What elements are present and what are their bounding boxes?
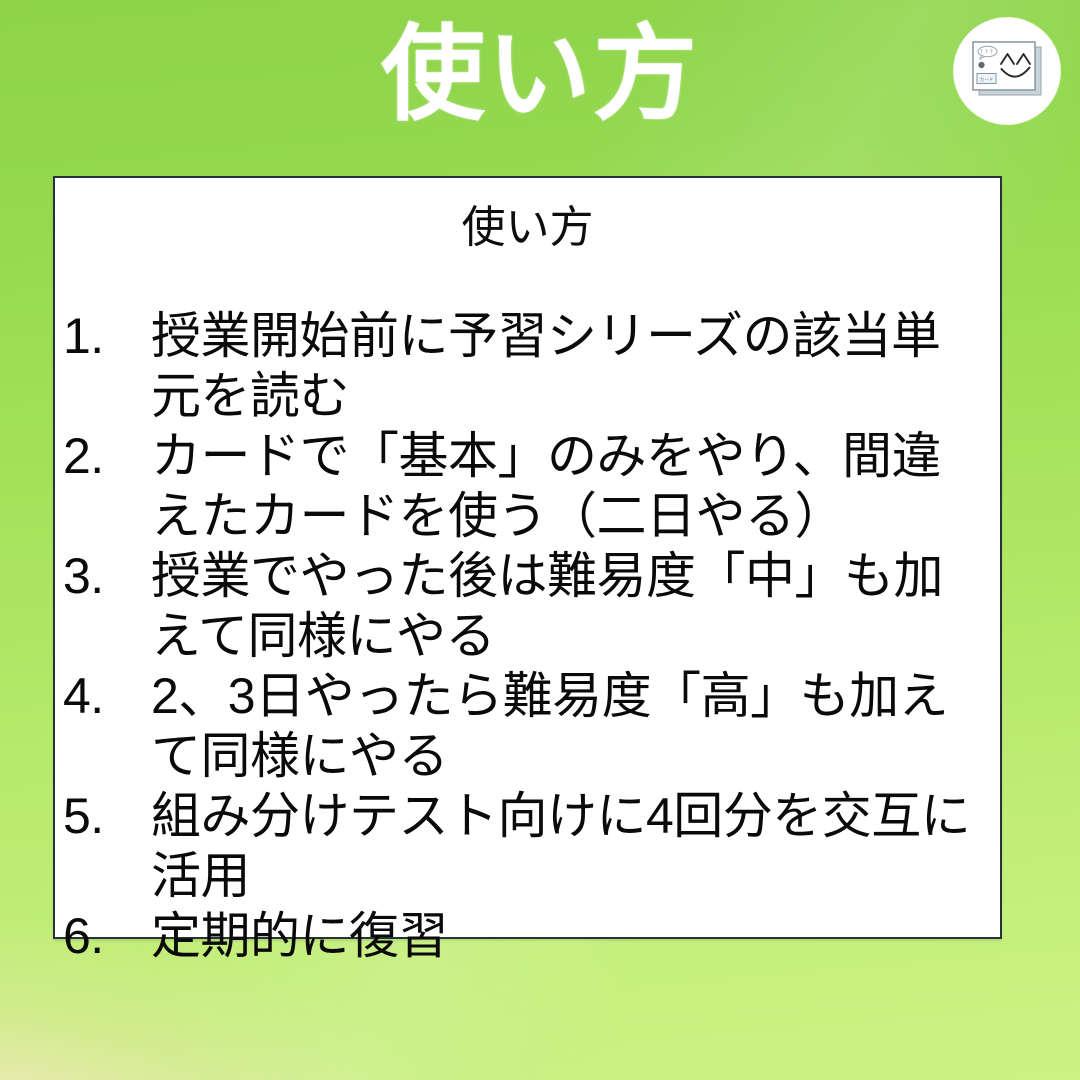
steps-list: 1. 授業開始前に予習シリーズの該当単元を読む 2. カードで「基本」のみをやり… xyxy=(55,307,1000,967)
svg-text:？？？: ？？？ xyxy=(980,50,995,56)
page-title: 使い方 xyxy=(0,9,1080,142)
step-text: カードで「基本」のみをやり、間違えたカードを使う（二日やる） xyxy=(151,427,990,546)
list-item: 6. 定期的に復習 xyxy=(55,907,990,967)
flashcard-smiley-icon: ？？？ カード xyxy=(968,34,1046,108)
step-number: 6. xyxy=(55,907,151,967)
list-item: 3. 授業でやった後は難易度「中」も加えて同様にやる xyxy=(55,547,990,666)
brand-logo-badge: ？？？ カード xyxy=(954,18,1060,124)
step-number: 5. xyxy=(55,787,151,847)
slide-header: 使い方 ？？？ カード xyxy=(0,0,1080,168)
step-text: 授業でやった後は難易度「中」も加えて同様にやる xyxy=(151,547,990,666)
card-heading: 使い方 xyxy=(55,200,1000,255)
step-number: 1. xyxy=(55,307,151,367)
list-item: 4. 2、3日やったら難易度「高」も加えて同様にやる xyxy=(55,667,990,786)
list-item: 1. 授業開始前に予習シリーズの該当単元を読む xyxy=(55,307,990,426)
slide-root: 使い方 ？？？ カード xyxy=(0,0,1080,1080)
list-item: 5. 組み分けテスト向けに4回分を交互に活用 xyxy=(55,787,990,906)
step-number: 4. xyxy=(55,667,151,727)
step-text: 授業開始前に予習シリーズの該当単元を読む xyxy=(151,307,990,426)
step-number: 3. xyxy=(55,547,151,607)
step-text: 組み分けテスト向けに4回分を交互に活用 xyxy=(151,787,990,906)
step-text: 定期的に復習 xyxy=(151,907,990,967)
list-item: 2. カードで「基本」のみをやり、間違えたカードを使う（二日やる） xyxy=(55,427,990,546)
content-card: 使い方 1. 授業開始前に予習シリーズの該当単元を読む 2. カードで「基本」の… xyxy=(53,176,1002,939)
step-number: 2. xyxy=(55,427,151,487)
step-text: 2、3日やったら難易度「高」も加えて同様にやる xyxy=(151,667,990,786)
